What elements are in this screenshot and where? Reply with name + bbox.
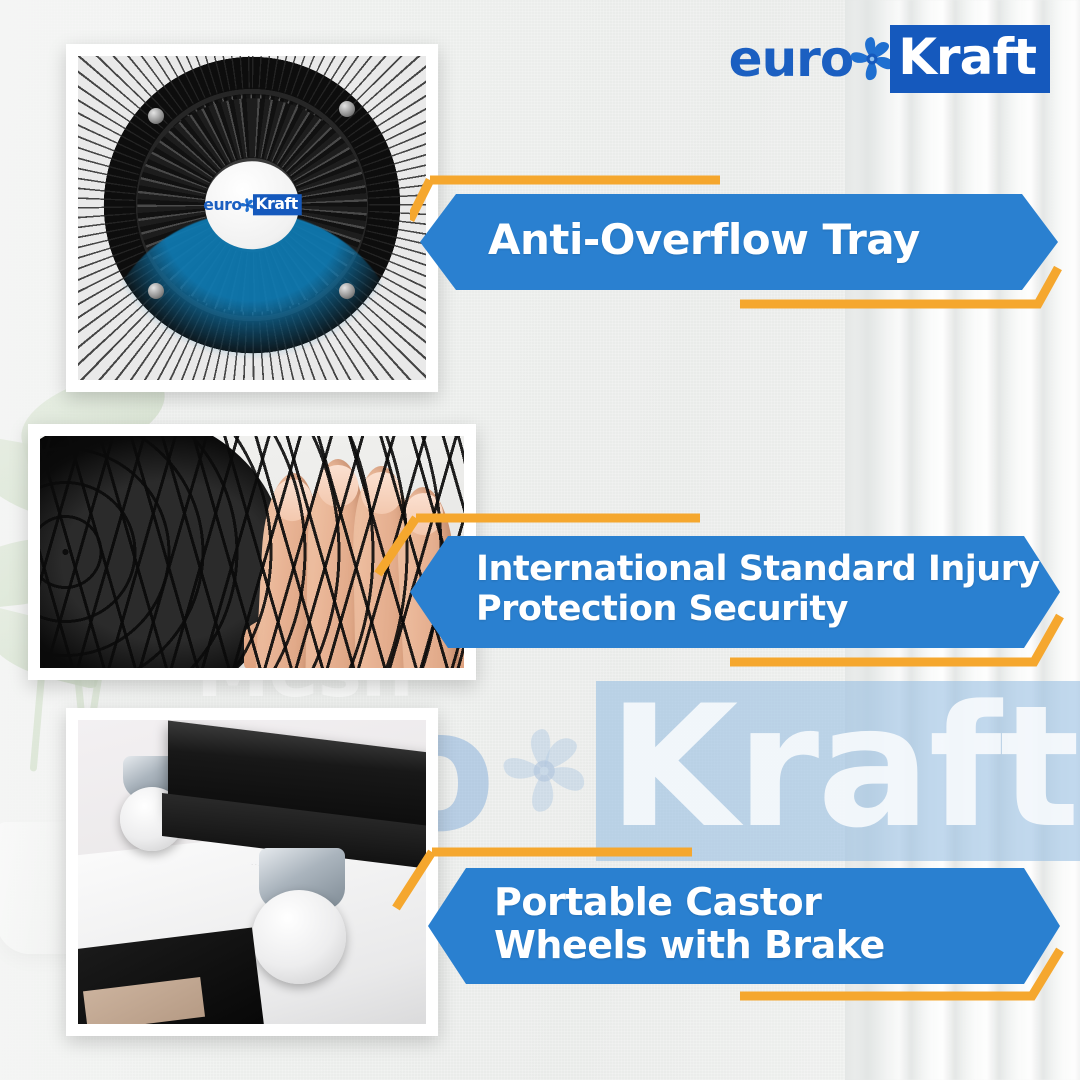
fan-bolt [148, 108, 164, 124]
photo-inner: euro Kraft [78, 56, 426, 380]
fan-bolt [148, 283, 164, 299]
fan-propeller-icon [849, 36, 895, 82]
banner-text-block: Portable Castor Wheels with Brake [392, 846, 1070, 1006]
banner-text-block: Anti-Overflow Tray [410, 172, 1070, 312]
banner-line: Anti-Overflow Tray [488, 216, 1070, 264]
banner-line: Protection Security [476, 590, 1070, 630]
photo-inner [78, 720, 426, 1024]
banner-line: International Standard Injury [476, 550, 1070, 590]
cap-kraft-text: Kraft [255, 195, 297, 213]
feature-banner-injury-protection[interactable]: International Standard Injury Protection… [370, 512, 1070, 672]
logo-euro-text: euro [729, 30, 854, 88]
brand-logo[interactable]: euro Kraft [729, 28, 1050, 90]
feature-banner-anti-overflow-tray[interactable]: Anti-Overflow Tray [410, 172, 1070, 312]
castor-wheel [252, 890, 346, 984]
center-cap-logo: euro Kraft [203, 194, 301, 215]
feature-photo-anti-overflow-tray: euro Kraft [66, 44, 438, 392]
cap-kraft-box: Kraft [252, 194, 301, 215]
banner-line: Wheels with Brake [494, 924, 1070, 967]
fan-center-cap: euro Kraft [205, 161, 299, 248]
feature-photo-castor-wheels [66, 708, 438, 1036]
feature-banner-castor-wheels[interactable]: Portable Castor Wheels with Brake [392, 846, 1070, 1006]
fan-bolt [339, 283, 355, 299]
banner-line: Portable Castor [494, 881, 1070, 924]
banner-text-block: International Standard Injury Protection… [370, 512, 1070, 672]
logo-kraft-box: Kraft [890, 25, 1050, 93]
logo-kraft-text: Kraft [898, 28, 1036, 86]
cap-euro-text: euro [203, 196, 241, 214]
